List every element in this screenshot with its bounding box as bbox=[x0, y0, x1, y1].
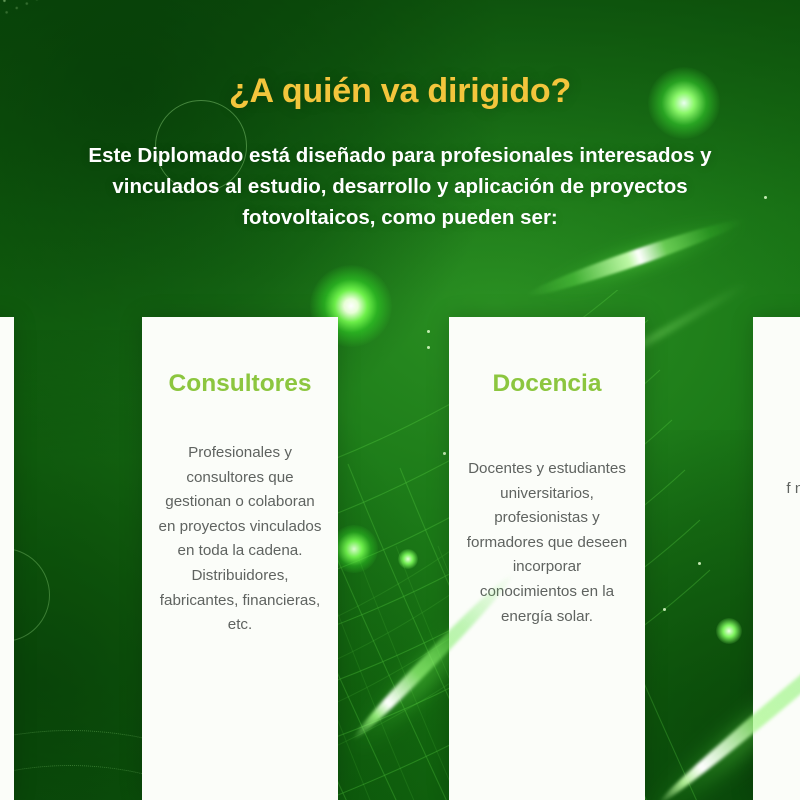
audience-card-consultores[interactable]: Consultores Profesionales y consultores … bbox=[142, 317, 338, 800]
audience-card-4-title: Go G bbox=[767, 369, 800, 429]
audience-card-docencia-title: Docencia bbox=[463, 369, 631, 399]
slide-content: ¿A quién va dirigido? Este Diplomado est… bbox=[0, 0, 800, 800]
audience-card-consultores-body: Profesionales y consultores que gestiona… bbox=[156, 441, 324, 638]
page-subtitle: Este Diplomado está diseñado para profes… bbox=[60, 140, 740, 233]
audience-card-4[interactable]: Go G f n enti que pro sec bbox=[753, 317, 800, 800]
audience-card-docencia[interactable]: Docencia Docentes y estudiantes universi… bbox=[449, 317, 645, 800]
audience-card-docencia-body: Docentes y estudiantes universitarios, p… bbox=[463, 457, 631, 629]
audience-card-4-body: f n enti que pro sec bbox=[767, 477, 800, 502]
page-title: ¿A quién va dirigido? bbox=[0, 72, 800, 111]
audience-card-1[interactable] bbox=[0, 317, 14, 800]
audience-card-consultores-title: Consultores bbox=[156, 369, 324, 399]
audience-cards-row: Consultores Profesionales y consultores … bbox=[0, 317, 800, 800]
slide-canvas: ¿A quién va dirigido? Este Diplomado est… bbox=[0, 0, 800, 800]
